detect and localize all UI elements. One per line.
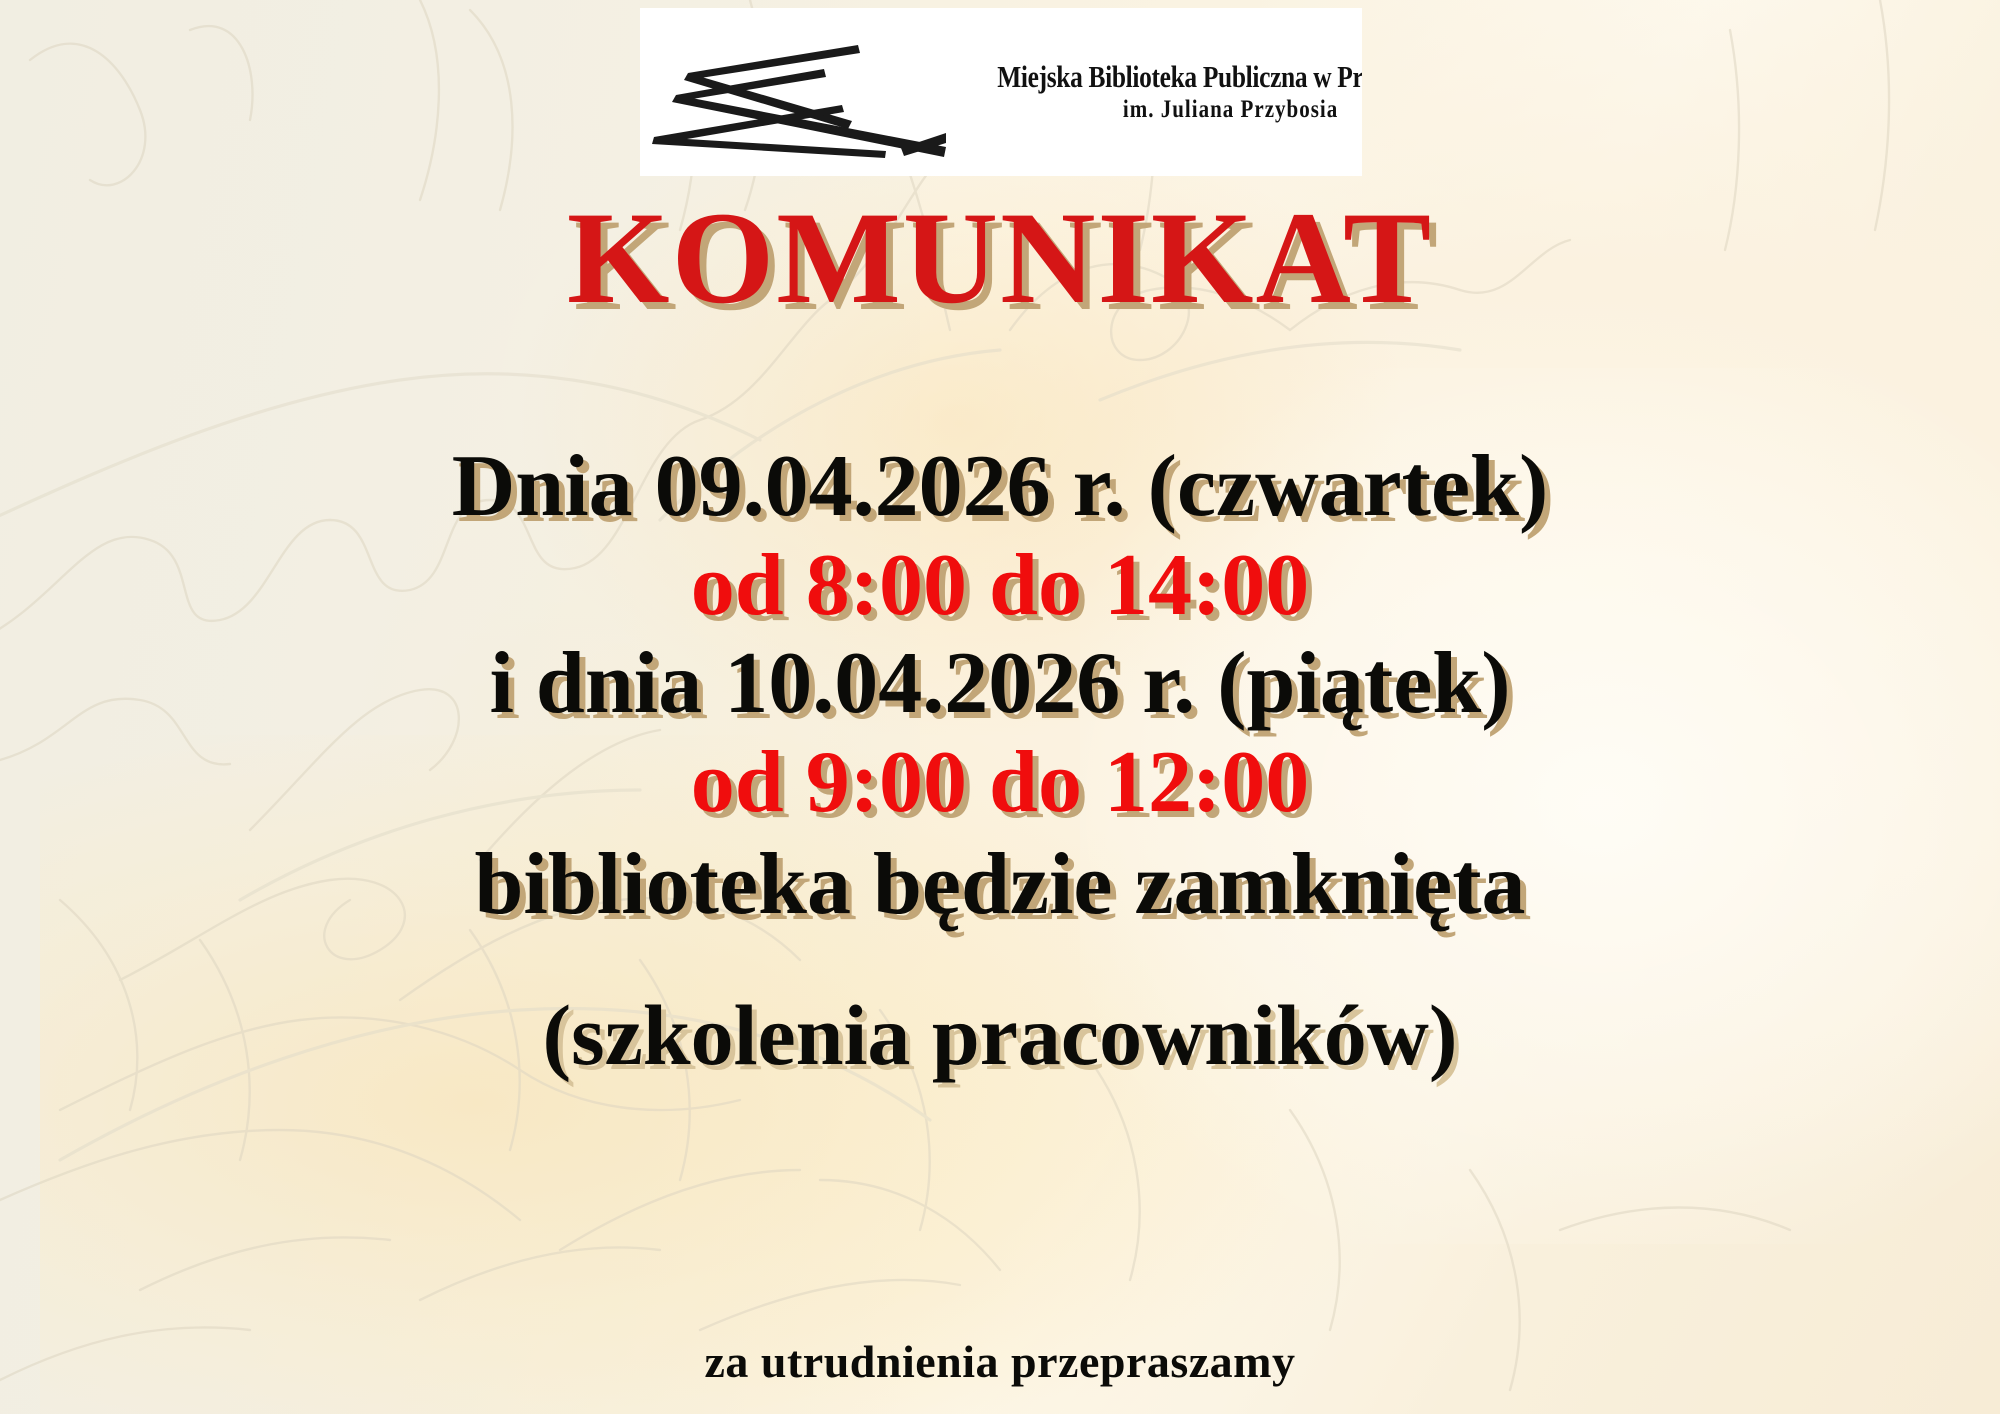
library-logo: Miejska Biblioteka Publiczna w Przeworsk…	[640, 8, 1362, 176]
page-title: KOMUNIKAT	[0, 192, 2000, 324]
announcement-line-hours-1: od 8:00 do 14:00	[0, 537, 2000, 636]
announcement-poster: Miejska Biblioteka Publiczna w Przeworsk…	[0, 0, 2000, 1414]
announcement-line-closed: biblioteka będzie zamknięta	[0, 836, 2000, 935]
announcement-line-reason: (szkolenia pracowników)	[0, 987, 2000, 1083]
announcement-line-hours-2: od 9:00 do 12:00	[0, 734, 2000, 833]
announcement-line-date-1: Dnia 09.04.2026 r. (czwartek)	[0, 438, 2000, 537]
announcement-body: Dnia 09.04.2026 r. (czwartek) od 8:00 do…	[0, 438, 2000, 1083]
logo-text-block: Miejska Biblioteka Publiczna w Przeworsk…	[946, 61, 1362, 124]
announcement-line-date-2: i dnia 10.04.2026 r. (piątek)	[0, 635, 2000, 734]
logo-institution-name: Miejska Biblioteka Publiczna w Przeworsk…	[997, 61, 1362, 94]
logo-patron-name: im. Juliana Przybosia	[992, 97, 1362, 123]
apology-note: za utrudnienia przepraszamy	[0, 1335, 2000, 1388]
abstract-zigzag-book-mark-icon	[646, 17, 946, 167]
